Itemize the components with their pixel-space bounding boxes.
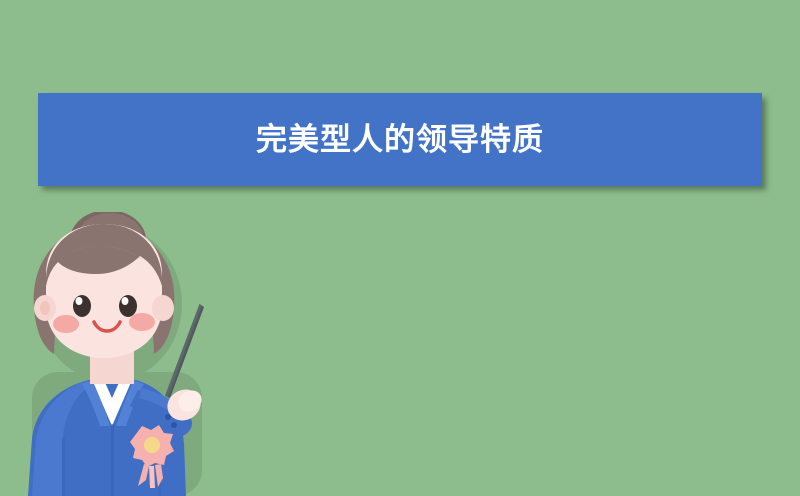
ear-right xyxy=(152,295,174,321)
cheek-right xyxy=(129,313,155,331)
cheek-left xyxy=(53,315,79,333)
teacher-illustration xyxy=(18,212,248,496)
title-banner: 完美型人的领导特质 xyxy=(38,93,762,186)
page-title: 完美型人的领导特质 xyxy=(256,124,544,155)
slide-canvas: 完美型人的领导特质 xyxy=(0,0,800,496)
